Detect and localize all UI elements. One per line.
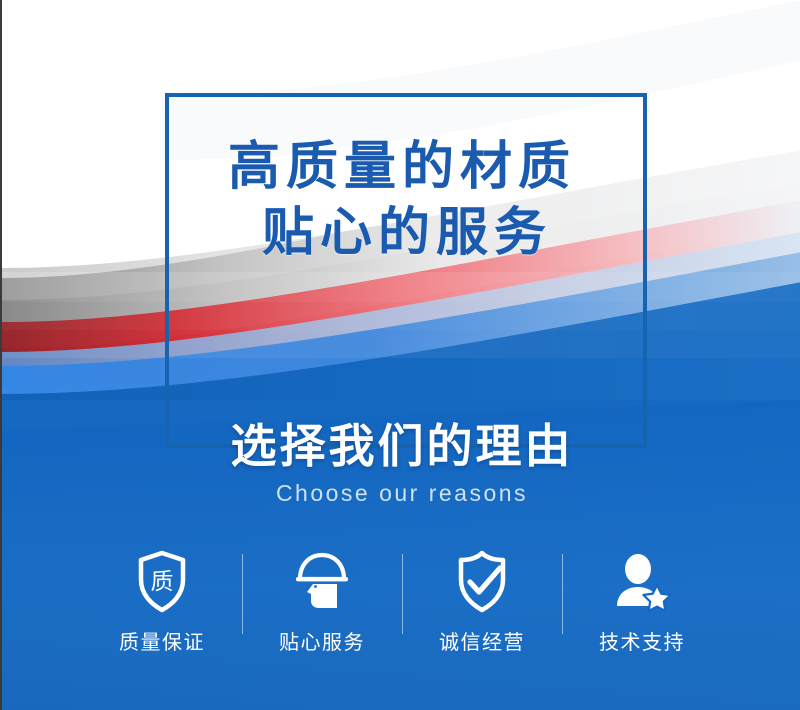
feature-item-quality[interactable]: 质 质量保证 xyxy=(82,548,242,656)
feature-list: 质 质量保证 贴心服务 xyxy=(82,548,722,678)
feature-label-service: 贴心服务 xyxy=(279,630,365,656)
feature-item-support[interactable]: 技术支持 xyxy=(562,548,722,656)
feature-label-integrity: 诚信经营 xyxy=(439,630,525,656)
shield-check-icon xyxy=(451,548,513,616)
helmet-worker-icon xyxy=(291,548,353,616)
feature-label-quality: 质量保证 xyxy=(119,630,205,656)
top-headline: 高质量的材质 贴心的服务 xyxy=(2,134,800,266)
shield-quality-icon: 质 xyxy=(131,548,193,616)
main-heading-chinese: 选择我们的理由 xyxy=(2,418,800,474)
top-headline-line-2: 贴心的服务 xyxy=(2,200,800,266)
feature-label-support: 技术支持 xyxy=(599,630,685,656)
feature-item-service[interactable]: 贴心服务 xyxy=(242,548,402,656)
banner-canvas: 高质量的材质 贴心的服务 选择我们的理由 Choose our reasons … xyxy=(0,0,800,710)
person-star-icon xyxy=(611,548,673,616)
main-heading: 选择我们的理由 Choose our reasons xyxy=(2,418,800,508)
feature-item-integrity[interactable]: 诚信经营 xyxy=(402,548,562,656)
svg-text:质: 质 xyxy=(151,568,174,594)
top-headline-line-1: 高质量的材质 xyxy=(2,134,800,200)
main-heading-english: Choose our reasons xyxy=(2,478,800,508)
